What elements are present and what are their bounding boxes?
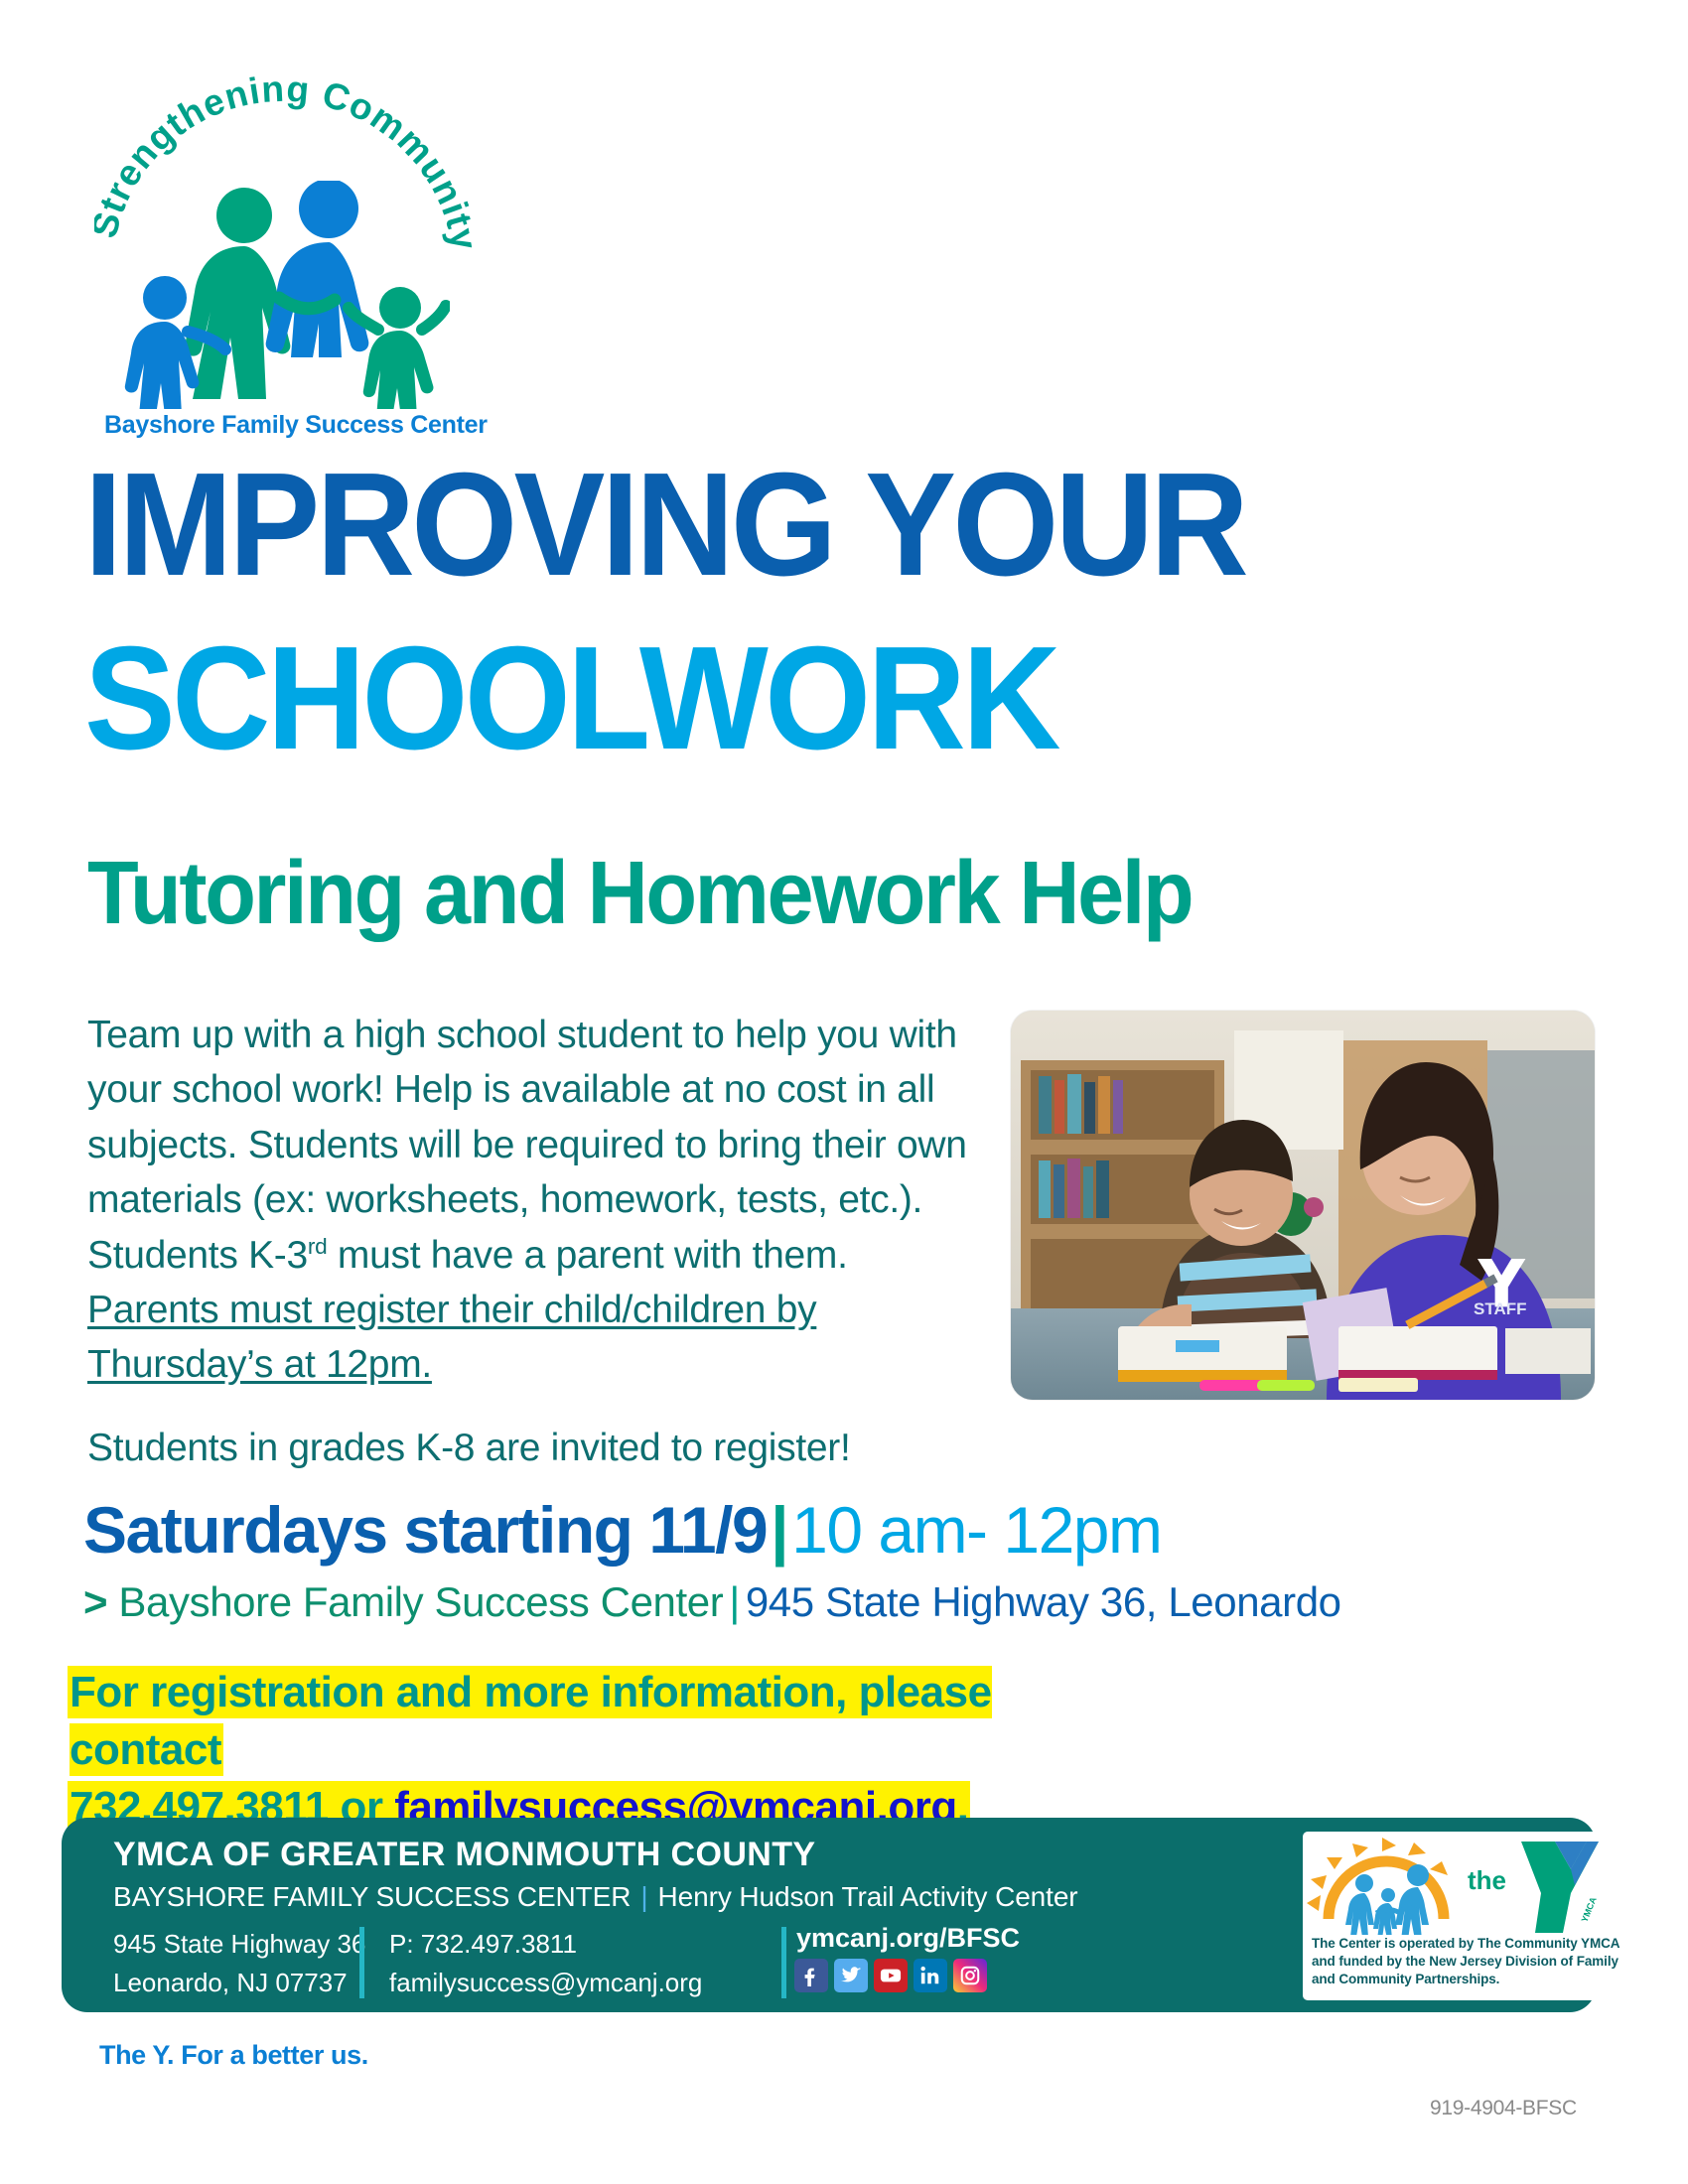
- footer-divider-1: [359, 1927, 364, 1998]
- headline-subtitle: Tutoring and Homework Help: [87, 849, 1192, 938]
- family-silhouette-icon: [112, 181, 450, 409]
- linkedin-icon[interactable]: [914, 1959, 947, 1992]
- sun-family-icon: [1303, 1832, 1462, 1935]
- body-underlined-note: Parents must register their child/childr…: [87, 1289, 816, 1386]
- flyer-page: Strengthening Community Bayshore Family …: [0, 0, 1688, 2184]
- badge-disclaimer-line-1: The Center is operated by The Community …: [1312, 1935, 1629, 1953]
- headline-line-2: SCHOOLWORK: [84, 625, 1057, 772]
- body-paragraph: Team up with a high school student to he…: [87, 1008, 986, 1393]
- footer-subtitle-separator: |: [631, 1881, 657, 1912]
- session-schedule: Saturdays starting 11/9|10 am- 12pm: [83, 1497, 1161, 1563]
- badge-disclaimer: The Center is operated by The Community …: [1312, 1935, 1629, 1988]
- venue-name: Bayshore Family Success Center: [118, 1578, 723, 1625]
- footer-address-line-2: Leonardo, NJ 07737: [113, 1964, 365, 2002]
- grades-invited-line: Students in grades K-8 are invited to re…: [87, 1427, 1060, 1470]
- ymca-the-label: the: [1468, 1865, 1506, 1895]
- badge-disclaimer-line-2: and funded by the New Jersey Division of…: [1312, 1953, 1629, 1971]
- session-time: 10 am- 12pm: [791, 1493, 1161, 1567]
- venue-address: 945 State Highway 36, Leonardo: [746, 1578, 1341, 1625]
- svg-text:YMCA: YMCA: [1580, 1895, 1599, 1924]
- registration-contact-block: For registration and more information, p…: [70, 1664, 1102, 1837]
- footer-divider-2: [781, 1927, 786, 1998]
- ordinal-suffix: rd: [308, 1234, 328, 1259]
- body-part-2: must have a parent with them.: [327, 1234, 847, 1277]
- svg-text:STAFF: STAFF: [1474, 1299, 1527, 1318]
- tutoring-photo-illustration: STAFF: [1011, 1011, 1595, 1400]
- footer-phone: P: 732.497.3811: [389, 1925, 702, 1964]
- funding-badge: the YMCA The Center is operated by The C…: [1303, 1832, 1630, 2000]
- ymca-logo-icon: the YMCA: [1462, 1832, 1611, 1935]
- facebook-icon[interactable]: [794, 1959, 828, 1992]
- chevron-right-icon: >: [83, 1578, 107, 1625]
- footer-org-title: YMCA OF GREATER MONMOUTH COUNTY: [113, 1836, 815, 1874]
- headline-line-1: IMPROVING YOUR: [84, 452, 1245, 599]
- session-days: Saturdays starting 11/9: [83, 1493, 767, 1567]
- footer-bar: YMCA OF GREATER MONMOUTH COUNTY BAYSHORE…: [62, 1818, 1596, 2012]
- footer-email: familysuccess@ymcanj.org: [389, 1964, 702, 2002]
- footer-subtitle: BAYSHORE FAMILY SUCCESS CENTER|Henry Hud…: [113, 1881, 1078, 1913]
- logo-caption: Bayshore Family Success Center: [104, 411, 482, 440]
- twitter-icon[interactable]: [834, 1959, 868, 1992]
- instagram-icon[interactable]: [953, 1959, 987, 1992]
- session-location: > Bayshore Family Success Center|945 Sta…: [83, 1581, 1341, 1623]
- badge-disclaimer-line-3: and Community Partnerships.: [1312, 1971, 1629, 1988]
- badge-logo-row: the YMCA: [1303, 1832, 1630, 1935]
- footer-contact: P: 732.497.3811 familysuccess@ymcanj.org: [389, 1925, 702, 2002]
- footer-address: 945 State Highway 36 Leonardo, NJ 07737: [113, 1925, 365, 2002]
- footer-address-line-1: 945 State Highway 36: [113, 1925, 365, 1964]
- footer-subtitle-right: Henry Hudson Trail Activity Center: [658, 1881, 1078, 1912]
- tutoring-photo: STAFF: [1011, 1011, 1595, 1400]
- youtube-icon[interactable]: [874, 1959, 908, 1992]
- contact-line-1: For registration and more information, p…: [70, 1668, 992, 1774]
- document-code: 919-4904-BFSC: [1430, 2097, 1577, 2120]
- social-links: [794, 1959, 987, 1992]
- y-tagline: The Y. For a better us.: [99, 2040, 368, 2071]
- footer-website[interactable]: ymcanj.org/BFSC: [796, 1923, 1020, 1954]
- location-separator: |: [723, 1578, 746, 1625]
- footer-subtitle-left: BAYSHORE FAMILY SUCCESS CENTER: [113, 1881, 631, 1912]
- schedule-separator: |: [767, 1493, 791, 1567]
- bfsc-logo: Strengthening Community Bayshore Family …: [94, 52, 472, 389]
